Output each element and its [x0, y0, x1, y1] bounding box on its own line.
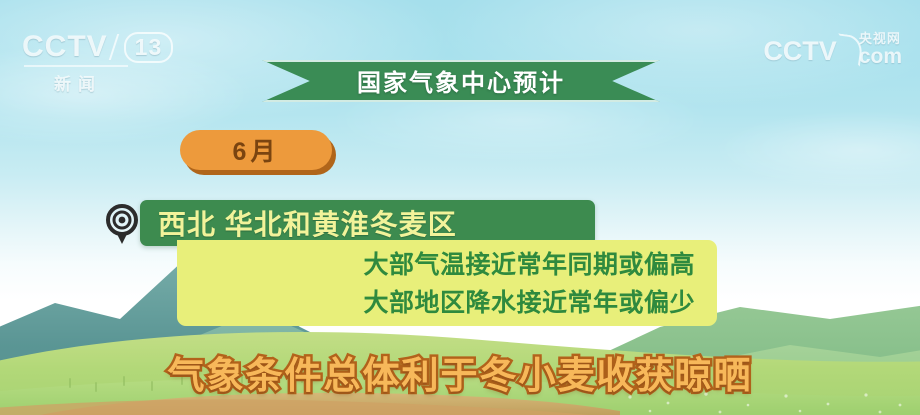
month-badge: 6月 — [180, 130, 332, 170]
region-heading-text: 西北 华北和黄淮冬麦区 — [158, 203, 457, 243]
logo-slash — [108, 34, 118, 60]
broadcast-frame: CCTV 13 新闻 CCTV 央视网 com 国家气象中心预计 6月 — [0, 0, 920, 415]
title-banner: 国家气象中心预计 — [262, 60, 660, 102]
banner-title: 国家气象中心预计 — [262, 60, 660, 102]
forecast-detail-line-2: 大部地区降水接近常年或偏少 — [363, 284, 695, 322]
watermark-right-group: 央视网 com — [859, 32, 902, 67]
bottom-headline: 气象条件总体利于冬小麦收获晾晒 — [0, 345, 920, 399]
channel-subtitle: 新闻 — [22, 70, 134, 95]
cctv13-logo-row: CCTV 13 — [22, 30, 182, 64]
location-pin-icon — [104, 203, 140, 245]
month-badge-label: 6月 — [180, 130, 332, 170]
logo-underline — [24, 65, 128, 67]
watermark-brand: CCTV — [763, 36, 837, 67]
cctv-com-watermark: CCTV 央视网 com — [763, 32, 902, 67]
forecast-detail-lines: 大部气温接近常年同期或偏高 大部地区降水接近常年或偏少 — [363, 246, 695, 322]
forecast-detail-line-1: 大部气温接近常年同期或偏高 — [363, 246, 695, 284]
watermark-domain: com — [859, 46, 902, 67]
watermark-cn-text: 央视网 — [859, 32, 901, 46]
cctv-wordmark: CCTV — [22, 30, 108, 64]
channel-number: 13 — [124, 32, 174, 63]
forecast-detail-box: 大部气温接近常年同期或偏高 大部地区降水接近常年或偏少 — [177, 240, 717, 326]
cctv13-channel-logo: CCTV 13 新闻 — [22, 30, 182, 92]
